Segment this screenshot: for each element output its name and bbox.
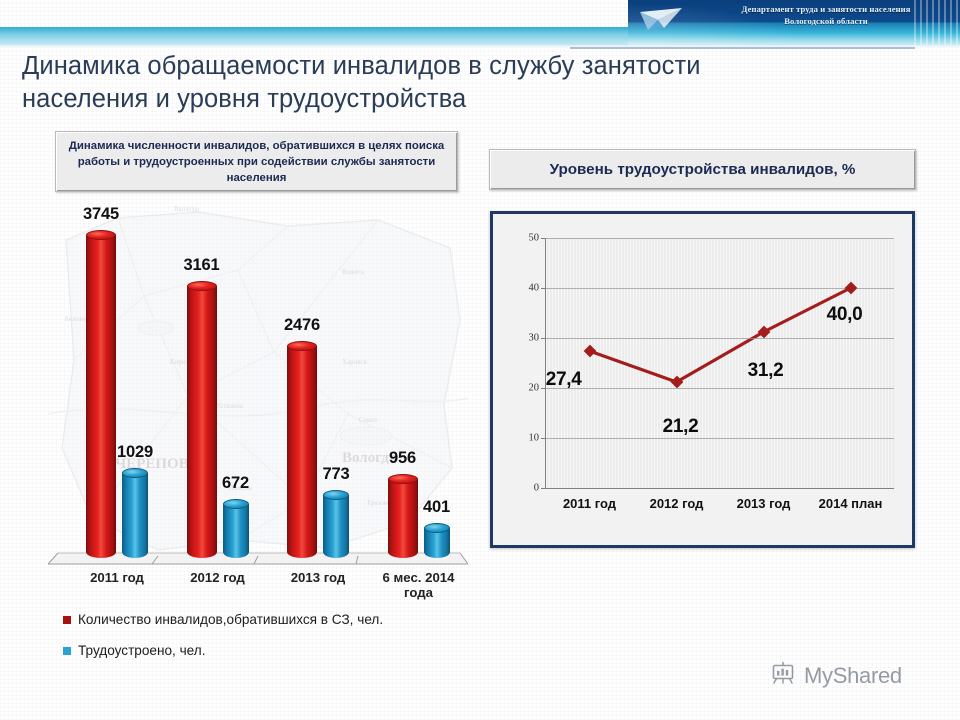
header-banner: Департамент труда и занятости населения … [628, 0, 960, 45]
y-axis-tick-label: 50 [529, 233, 540, 244]
map-place-label: Сокол [359, 416, 377, 424]
map-place-label: Вожега [342, 268, 364, 276]
y-axis-tick-mark [541, 288, 546, 289]
banner-stripes [914, 0, 960, 45]
bar-value-label: 401 [423, 498, 450, 517]
gridline [546, 238, 894, 239]
title-rule [570, 47, 915, 49]
bar-value-label: 956 [389, 449, 416, 468]
y-axis-tick-mark [541, 338, 546, 339]
y-axis-tick-label: 40 [529, 283, 540, 294]
line-series-path [590, 288, 851, 382]
legend-swatch [63, 616, 71, 624]
bar-applied [388, 474, 418, 558]
legend-label: Трудоустроено, чел. [78, 643, 206, 658]
gridline [546, 438, 894, 439]
bar-applied [287, 341, 317, 558]
myshared-watermark: MyShared [770, 660, 902, 691]
legend-item: Количество инвалидов,обратившихся в СЗ, … [63, 612, 383, 627]
line-value-label: 27,4 [546, 369, 582, 391]
y-axis-tick-label: 30 [529, 333, 540, 344]
line-chart-frame: 0102030405027,421,231,240,02011 год2012 … [490, 211, 915, 548]
bar-category-label: 6 мес. 2014 года [367, 570, 471, 600]
y-axis-tick-mark [541, 238, 546, 239]
line-value-label: 31,2 [748, 360, 784, 382]
x-axis-category-label: 2012 год [650, 496, 704, 511]
gridline [546, 388, 894, 389]
line-value-label: 40,0 [827, 304, 863, 326]
x-axis-category-label: 2011 год [563, 496, 616, 511]
bar-category-label: 2013 год [266, 570, 370, 585]
map-place-label: Вытегра [174, 205, 199, 213]
bar-chart-title-box: Динамика численности инвалидов, обративш… [55, 131, 458, 192]
myshared-watermark-text: MyShared [804, 663, 902, 689]
bar-employed [323, 490, 349, 558]
gridline [546, 288, 894, 289]
y-axis-tick-mark [541, 438, 546, 439]
line-value-label: 21,2 [663, 416, 699, 438]
bar-value-label: 672 [222, 474, 249, 493]
y-axis-tick-label: 10 [529, 433, 540, 444]
banner-light-band [0, 27, 632, 45]
y-axis-tick-mark [541, 488, 546, 489]
x-axis-category-label: 2013 год [737, 496, 791, 511]
x-axis-category-label: 2014 план [819, 496, 883, 511]
bar-value-label: 773 [323, 465, 350, 484]
bar-value-label: 2476 [284, 316, 320, 335]
line-chart-title-box: Уровень трудоустройства инвалидов, % [489, 149, 916, 190]
line-chart-plot-area: 0102030405027,421,231,240,02011 год2012 … [545, 238, 894, 489]
slide-canvas: Департамент труда и занятости населения … [0, 0, 960, 720]
bar-value-label: 3161 [184, 256, 220, 275]
map-place-label: Харовск [342, 358, 367, 366]
arrow-swoosh-logo-icon [638, 6, 692, 38]
legend-swatch [63, 647, 71, 655]
bar-applied [86, 230, 116, 558]
bar-value-label: 1029 [117, 443, 153, 462]
legend-item: Трудоустроено, чел. [63, 643, 206, 658]
bar-category-label: 2011 год [65, 570, 169, 585]
presentation-board-icon [770, 660, 796, 691]
legend-label: Количество инвалидов,обратившихся в СЗ, … [78, 612, 383, 627]
y-axis-tick-label: 0 [534, 483, 539, 494]
page-title: Динамика обращаемости инвалидов в службу… [22, 50, 822, 116]
y-axis-tick-label: 20 [529, 383, 540, 394]
bar-value-label: 3745 [83, 205, 119, 224]
map-place-label: Устюжна [216, 402, 243, 410]
bar-employed [122, 468, 148, 558]
bar-employed [424, 523, 450, 558]
bar-employed [223, 499, 249, 558]
bar-applied [187, 281, 217, 558]
gridline [546, 338, 894, 339]
bar-category-label: 2012 год [166, 570, 270, 585]
